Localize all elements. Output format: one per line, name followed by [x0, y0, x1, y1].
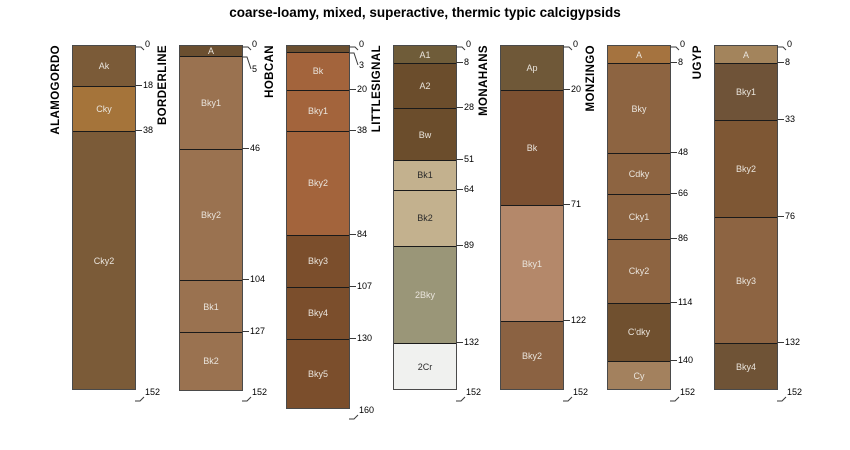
depth-tick-label: 8	[464, 57, 469, 68]
horizon-label: Bk	[501, 143, 563, 153]
horizon-label: A2	[394, 81, 456, 91]
profile-name-label: UGYP	[692, 45, 704, 79]
depth-tick-label: 51	[464, 154, 474, 165]
depth-tick-label: 132	[464, 337, 479, 348]
profile-name-label: ALAMOGORDO	[50, 45, 62, 135]
horizon-label: Bk2	[180, 356, 242, 366]
depth-tick-label: 152	[787, 387, 802, 398]
horizon-column: ABkyCdkyCky1Cky2C'dkyCy	[607, 45, 671, 390]
depth-tick-label: 28	[464, 102, 474, 113]
horizon-bky1: Bky1	[287, 91, 349, 132]
horizon-cky1: Cky1	[608, 195, 670, 240]
horizon-bky1: Bky1	[715, 64, 777, 121]
horizon-label: 2Bky	[394, 290, 456, 300]
horizon-a: A	[608, 46, 670, 64]
horizon-bky2: Bky2	[287, 132, 349, 236]
horizon-label: Bw	[394, 130, 456, 140]
horizon-bky1: Bky1	[180, 57, 242, 150]
depth-tick-label: 8	[678, 57, 683, 68]
depth-tick-label: 152	[573, 387, 588, 398]
depth-tick-label: 0	[680, 39, 685, 50]
depth-tick-label: 33	[785, 114, 795, 125]
horizon-label: Bky2	[287, 178, 349, 188]
horizon-bky1: Bky1	[501, 206, 563, 321]
horizon-bky4: Bky4	[287, 288, 349, 340]
depth-tick-label: 46	[250, 143, 260, 154]
page-title: coarse-loamy, mixed, superactive, thermi…	[0, 5, 850, 20]
horizon-label: 2Cr	[394, 362, 456, 372]
depth-tick-label: 3	[359, 60, 364, 71]
horizon-cky: Cky	[73, 87, 135, 132]
horizon-bky: Bky	[608, 64, 670, 154]
horizon-label: A	[180, 46, 242, 56]
horizon-label: Bky1	[287, 106, 349, 116]
horizon-label: Bk1	[394, 170, 456, 180]
depth-tick-label: 0	[466, 39, 471, 50]
horizon-cky2: Cky2	[608, 240, 670, 303]
horizon-cdky: C'dky	[608, 304, 670, 363]
horizon-label: Bky4	[287, 308, 349, 318]
horizon-column: ABky1Bky2Bky3Bky4	[714, 45, 778, 390]
horizon-label: Bky1	[501, 259, 563, 269]
horizon-label: Bky5	[287, 369, 349, 379]
depth-tick-label: 140	[678, 355, 693, 366]
horizon-bky3: Bky3	[287, 236, 349, 288]
depth-tick-label: 71	[571, 199, 581, 210]
horizon-label: Cy	[608, 371, 670, 381]
depth-tick-label: 66	[678, 188, 688, 199]
horizon-label: Cky	[73, 104, 135, 114]
horizon-bky2: Bky2	[501, 322, 563, 390]
depth-tick-label: 48	[678, 147, 688, 158]
horizon-bky2: Bky2	[715, 121, 777, 218]
horizon-column: ABky1Bky2Bk1Bk2	[179, 45, 243, 391]
horizon-bk2: Bk2	[394, 191, 456, 248]
horizon-label: Bky2	[715, 164, 777, 174]
horizon-ap: Ap	[501, 46, 563, 91]
horizon-label: Bky3	[287, 256, 349, 266]
depth-tick-label: 18	[143, 80, 153, 91]
depth-tick-label: 152	[145, 387, 160, 398]
horizon-label: Bky4	[715, 362, 777, 372]
horizon-label: Bky	[608, 104, 670, 114]
depth-tick-label: 152	[680, 387, 695, 398]
horizon-label: Cky2	[73, 256, 135, 266]
horizon-a: A	[715, 46, 777, 64]
horizon-label: A1	[394, 50, 456, 60]
depth-tick-label: 130	[357, 333, 372, 344]
horizon-column: A1A2BwBk1Bk22Bky2Cr	[393, 45, 457, 390]
depth-tick-label: 132	[785, 337, 800, 348]
depth-tick-label: 8	[785, 57, 790, 68]
horizon-label: Ap	[501, 63, 563, 73]
horizon-label: Bk2	[394, 213, 456, 223]
horizon-bk1: Bk1	[394, 161, 456, 190]
soil-profile-chart: ALAMOGORDOAkCkyCky201838152BORDERLINEABk…	[0, 37, 850, 437]
horizon-a: A	[180, 46, 242, 57]
horizon-a	[287, 46, 349, 53]
profile-name-label: MONZINGO	[585, 45, 597, 111]
horizon-label: Bk	[287, 66, 349, 76]
horizon-label: Cdky	[608, 169, 670, 179]
depth-tick-label: 0	[787, 39, 792, 50]
horizon-bw: Bw	[394, 109, 456, 161]
horizon-bky5: Bky5	[287, 340, 349, 408]
horizon-label: C'dky	[608, 327, 670, 337]
horizon-2cr: 2Cr	[394, 344, 456, 389]
depth-tick-label: 64	[464, 184, 474, 195]
horizon-label: Ak	[73, 61, 135, 71]
horizon-label: Cky2	[608, 266, 670, 276]
depth-tick-label: 20	[357, 84, 367, 95]
depth-tick-label: 38	[143, 125, 153, 136]
profile-name-label: HOBCAN	[264, 45, 276, 98]
depth-tick-label: 152	[252, 387, 267, 398]
horizon-label: Bky1	[715, 87, 777, 97]
horizon-a2: A2	[394, 64, 456, 109]
horizon-bky4: Bky4	[715, 344, 777, 389]
depth-tick-label: 38	[357, 125, 367, 136]
horizon-label: Bky2	[180, 210, 242, 220]
horizon-bky2: Bky2	[180, 150, 242, 281]
depth-tick-label: 0	[252, 39, 257, 50]
horizon-a1: A1	[394, 46, 456, 64]
horizon-label: Bky2	[501, 351, 563, 361]
horizon-ak: Ak	[73, 46, 135, 87]
horizon-bky3: Bky3	[715, 218, 777, 345]
horizon-bk: Bk	[501, 91, 563, 206]
horizon-label: Bk1	[180, 302, 242, 312]
profile-name-label: LITTLESIGNAL	[371, 45, 383, 132]
depth-tick-label: 0	[359, 39, 364, 50]
horizon-label: A	[715, 50, 777, 60]
horizon-column: ApBkBky1Bky2	[500, 45, 564, 390]
depth-tick-label: 0	[573, 39, 578, 50]
depth-tick-label: 127	[250, 326, 265, 337]
horizon-label: Bky1	[180, 98, 242, 108]
depth-tick-label: 114	[678, 297, 692, 308]
depth-tick-label: 76	[785, 211, 795, 222]
horizon-label: Bky3	[715, 276, 777, 286]
depth-tick-label: 86	[678, 233, 688, 244]
horizon-2bky: 2Bky	[394, 247, 456, 344]
horizon-label: Cky1	[608, 212, 670, 222]
depth-tick-label: 104	[250, 274, 265, 285]
depth-tick-label: 152	[466, 387, 481, 398]
depth-tick-label: 0	[145, 39, 150, 50]
depth-tick-label: 20	[571, 84, 581, 95]
horizon-bk: Bk	[287, 53, 349, 91]
horizon-cky2: Cky2	[73, 132, 135, 390]
profile-name-label: MONAHANS	[478, 45, 490, 116]
depth-tick-label: 122	[571, 315, 586, 326]
horizon-bk2: Bk2	[180, 333, 242, 390]
horizon-cdky: Cdky	[608, 154, 670, 195]
horizon-bk1: Bk1	[180, 281, 242, 333]
profile-name-label: BORDERLINE	[157, 45, 169, 125]
depth-tick-label: 84	[357, 229, 367, 240]
depth-tick-label: 160	[359, 405, 374, 416]
depth-tick-label: 107	[357, 281, 372, 292]
horizon-label: A	[608, 50, 670, 60]
horizon-column: BkBky1Bky2Bky3Bky4Bky5	[286, 45, 350, 409]
horizon-column: AkCkyCky2	[72, 45, 136, 390]
depth-tick-label: 89	[464, 240, 474, 251]
horizon-cy: Cy	[608, 362, 670, 389]
depth-tick-label: 5	[252, 64, 257, 75]
